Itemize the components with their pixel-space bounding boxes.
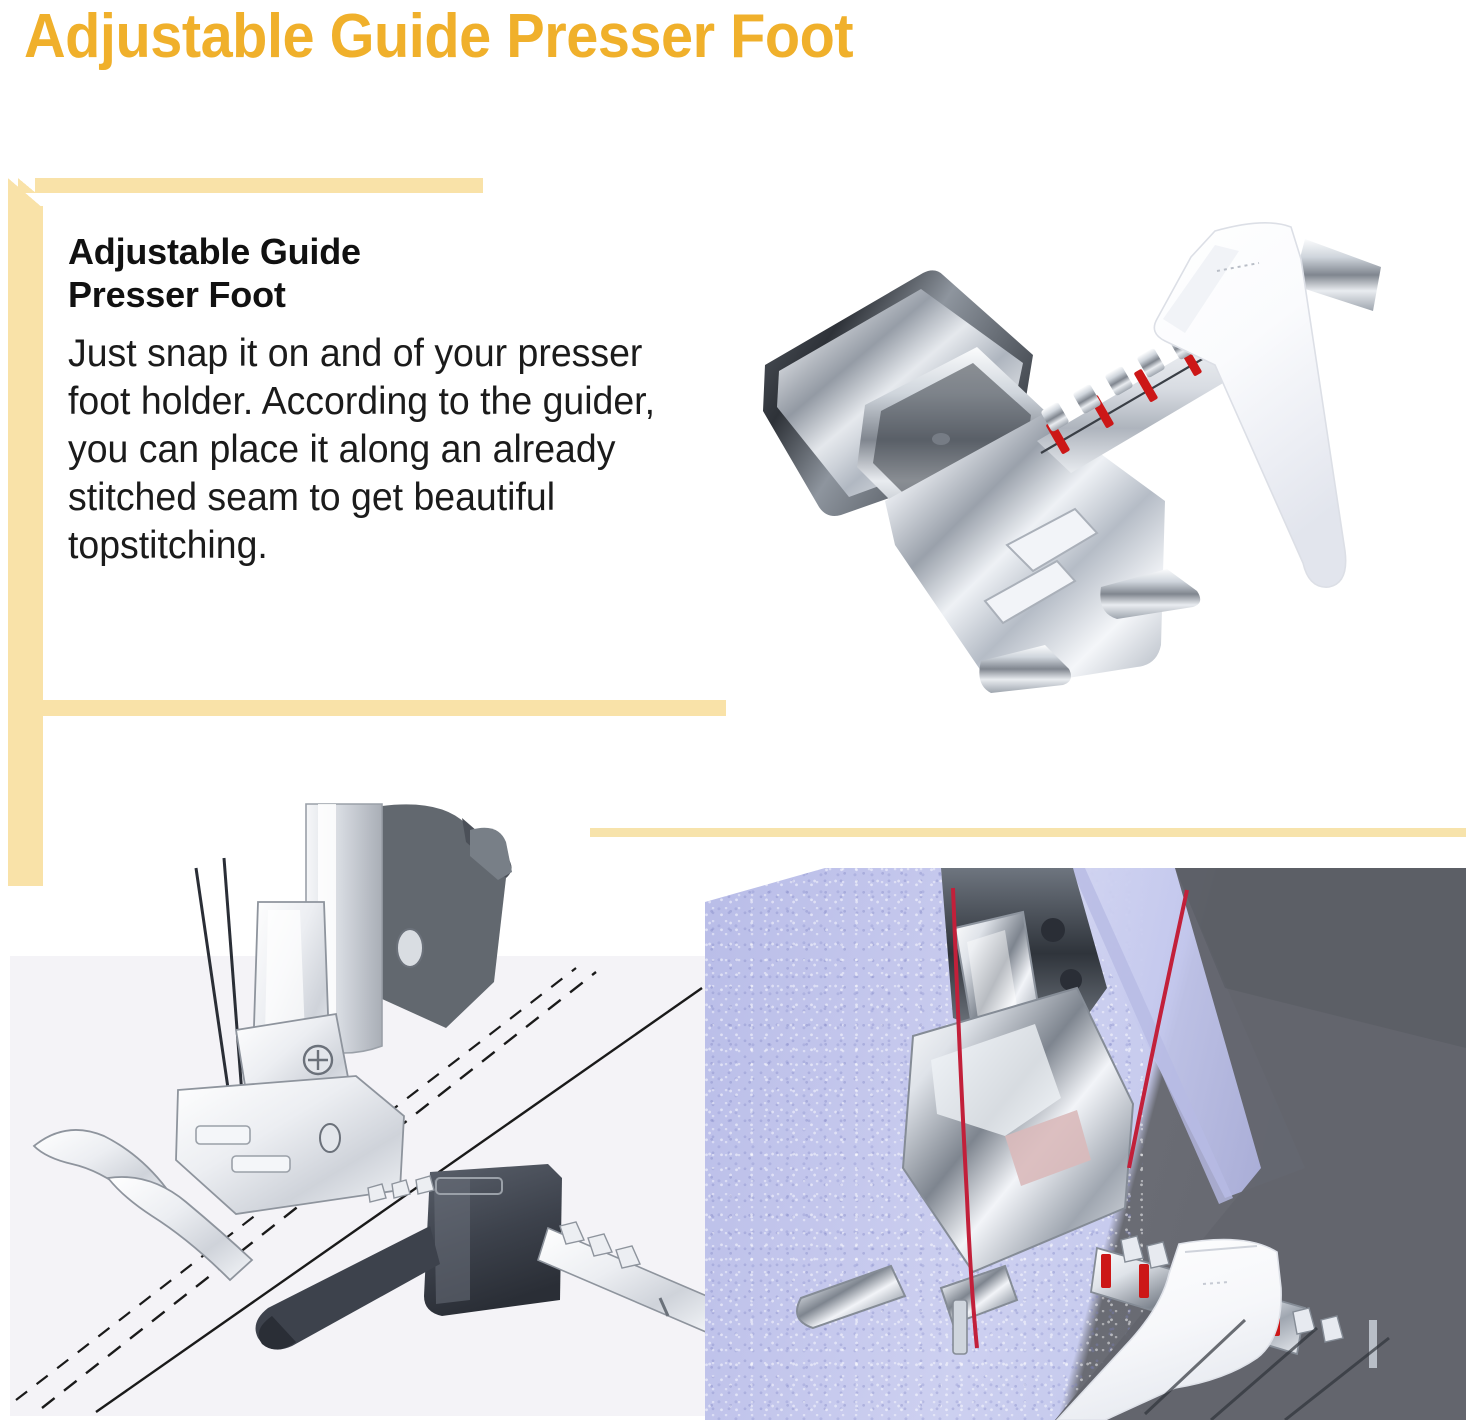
presser-foot-illustration: [745, 215, 1466, 695]
photo-bar-pin: [1369, 1320, 1377, 1368]
photo-corner-mask: [705, 868, 825, 902]
shank-hole-upper: [1041, 918, 1065, 942]
card-frame-top-bevel: [18, 178, 36, 193]
illo-ruler-bar: [538, 1228, 716, 1332]
sole-slot-b: [232, 1156, 290, 1172]
photo-overlay: [705, 868, 1466, 1420]
illo-foot-notch-1: [368, 1184, 386, 1202]
photo-bar-tick-2: [1139, 1264, 1149, 1298]
holder-screw-hole: [397, 929, 423, 967]
photo-bar-tick-1: [1101, 1254, 1111, 1288]
illo-foot-notch-2: [392, 1180, 410, 1198]
stitch-line-solid: [96, 988, 702, 1412]
card-heading: Adjustable Guide Presser Foot: [68, 230, 728, 316]
sole-slot-a: [196, 1126, 250, 1144]
card-body: Adjustable Guide Presser Foot Just snap …: [68, 230, 728, 570]
illustration-drawing: [0, 760, 740, 1420]
shank-hole-lower: [1060, 969, 1082, 991]
card-frame-top-bar: [35, 178, 483, 193]
photo-bar-notch-2: [1147, 1242, 1169, 1268]
in-use-photo: [705, 868, 1466, 1420]
card-paragraph: Just snap it on and of your presser foot…: [68, 330, 702, 570]
illo-guide-facet: [434, 1178, 470, 1304]
illo-foot-notch-3: [416, 1176, 434, 1194]
photo-toe-left: [797, 1266, 905, 1328]
page-title: Adjustable Guide Presser Foot: [24, 2, 853, 72]
hero-product-image: [745, 215, 1466, 695]
feature-card: Adjustable Guide Presser Foot Just snap …: [0, 170, 760, 730]
infographic-page: Adjustable Guide Presser Foot Adjustable…: [0, 0, 1466, 1420]
card-frame-bottom-bar: [8, 700, 726, 716]
usage-illustration: [0, 760, 740, 1420]
photo-toe-bar: [953, 1300, 967, 1354]
sole-pivot-hole: [320, 1124, 340, 1152]
photo-bar-notch-1: [1121, 1236, 1143, 1262]
snap-pivot-hole: [932, 433, 950, 445]
